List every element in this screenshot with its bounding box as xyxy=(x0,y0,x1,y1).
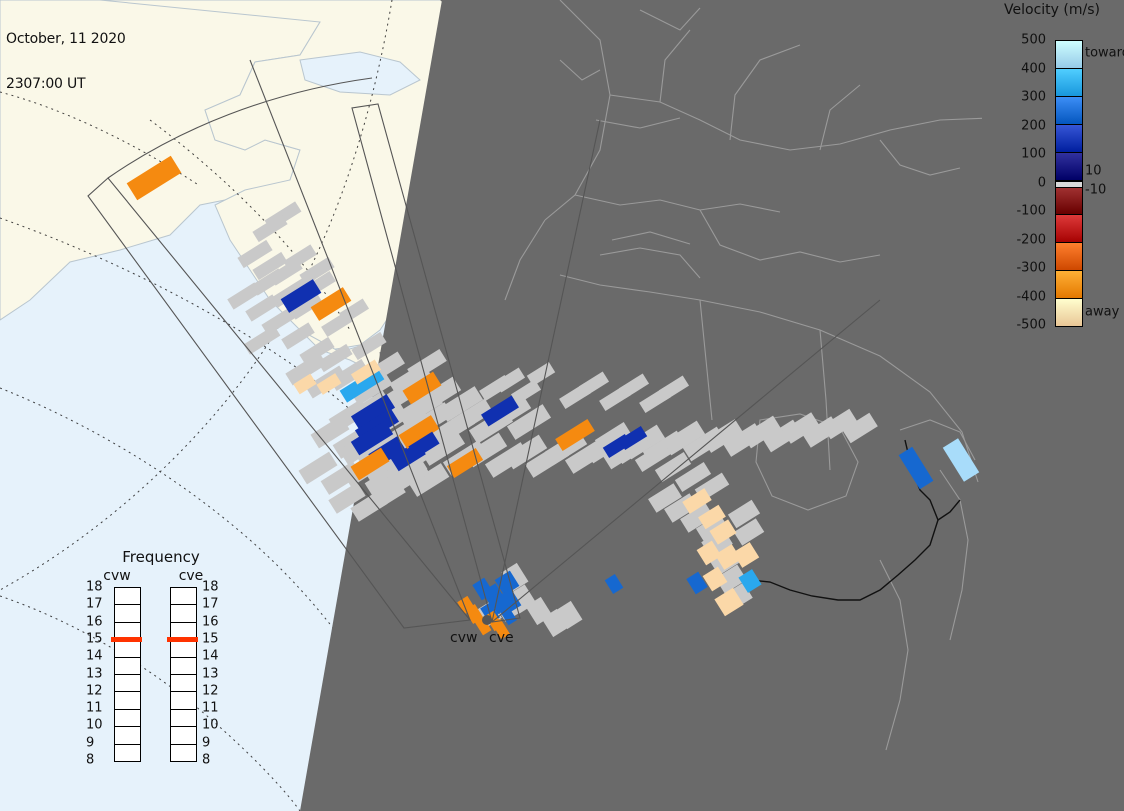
frequency-scale-cell xyxy=(115,588,140,605)
colorbar-segment xyxy=(1056,188,1082,216)
colorbar-toward-label: toward xyxy=(1085,47,1124,60)
frequency-tick-16: 16 xyxy=(86,615,103,628)
colorbar-tick-neg100: -100 xyxy=(1016,205,1046,218)
frequency-tick-9: 9 xyxy=(202,736,210,749)
frequency-tick-10: 10 xyxy=(202,719,219,732)
frequency-tick-13: 13 xyxy=(202,667,219,680)
frequency-tick-14: 14 xyxy=(202,650,219,663)
frequency-tick-10: 10 xyxy=(86,719,103,732)
frequency-tick-16: 16 xyxy=(202,615,219,628)
frequency-tick-14: 14 xyxy=(86,650,103,663)
colorbar-segment xyxy=(1056,69,1082,97)
frequency-scale-cell xyxy=(171,605,196,622)
frequency-tick-13: 13 xyxy=(86,667,103,680)
colorbar-segment xyxy=(1056,299,1082,326)
timestamp-time: 2307:00 UT xyxy=(6,77,126,92)
frequency-scale-cell xyxy=(115,658,140,675)
colorbar-tick-300: 300 xyxy=(1021,91,1046,104)
colorbar-tick-100: 100 xyxy=(1021,148,1046,161)
colorbar-tick-200: 200 xyxy=(1021,119,1046,132)
colorbar-segment xyxy=(1056,153,1082,181)
frequency-tick-15: 15 xyxy=(202,632,219,645)
frequency-ticks-cvw: 18171615141312111098 xyxy=(86,587,110,760)
colorbar-segment xyxy=(1056,125,1082,153)
timestamp-date: October, 11 2020 xyxy=(6,32,126,47)
frequency-scale-cvw xyxy=(114,587,141,762)
frequency-scale-cell xyxy=(171,692,196,709)
frequency-tick-18: 18 xyxy=(86,581,103,594)
colorbar-segment xyxy=(1056,97,1082,125)
colorbar-tick-labels: 5004003002001000-100-200-300-400-500 xyxy=(982,40,1050,325)
colorbar-segment xyxy=(1056,243,1082,271)
frequency-tick-11: 11 xyxy=(86,702,103,715)
frequency-scale-cve xyxy=(170,587,197,762)
radar-site-marker xyxy=(482,615,492,625)
colorbar-segment xyxy=(1056,271,1082,299)
frequency-scale-cell xyxy=(115,727,140,744)
frequency-tick-17: 17 xyxy=(86,598,103,611)
frequency-legend: Frequency cvw 18171615141312111098 cve 1… xyxy=(86,548,236,780)
colorbar-segment xyxy=(1056,215,1082,243)
frequency-scale-cell xyxy=(171,588,196,605)
frequency-scale-cell xyxy=(171,640,196,657)
frequency-tick-17: 17 xyxy=(202,598,219,611)
colorbar-zero-lower-label: -10 xyxy=(1085,184,1106,197)
frequency-scale-cell xyxy=(115,640,140,657)
colorbar-segment xyxy=(1056,41,1082,69)
frequency-ticks-cve: 18171615141312111098 xyxy=(202,587,226,760)
colorbar-tick-0: 0 xyxy=(1038,176,1046,189)
frequency-tick-9: 9 xyxy=(86,736,94,749)
frequency-tick-12: 12 xyxy=(202,684,219,697)
frequency-scale-cell xyxy=(115,692,140,709)
velocity-colorbar-panel: Velocity (m/s) 5004003002001000-100-200-… xyxy=(982,0,1124,811)
colorbar-tick-500: 500 xyxy=(1021,34,1046,47)
colorbar-zero-band xyxy=(1056,181,1082,188)
colorbar-tick-400: 400 xyxy=(1021,62,1046,75)
frequency-scale-cell xyxy=(115,745,140,761)
frequency-marker-cve xyxy=(167,637,198,642)
frequency-scale-cell xyxy=(115,710,140,727)
frequency-column-cvw: cvw 18171615141312111098 xyxy=(86,568,148,780)
frequency-tick-18: 18 xyxy=(202,581,219,594)
frequency-scale-cell xyxy=(171,710,196,727)
frequency-scale-cell xyxy=(171,658,196,675)
colorbar-tick-neg400: -400 xyxy=(1016,290,1046,303)
frequency-column-cve: cve 18171615141312111098 xyxy=(170,568,232,780)
frequency-tick-15: 15 xyxy=(86,632,103,645)
frequency-scale-cell xyxy=(171,745,196,761)
timestamp-block: October, 11 2020 2307:00 UT xyxy=(6,2,126,122)
frequency-tick-8: 8 xyxy=(202,754,210,767)
frequency-legend-title: Frequency xyxy=(86,548,236,566)
frequency-marker-cvw xyxy=(111,637,142,642)
colorbar-title: Velocity (m/s) xyxy=(982,2,1122,18)
colorbar-tick-neg500: -500 xyxy=(1016,319,1046,332)
site-label-cve: cve xyxy=(489,630,514,646)
frequency-scale-cell xyxy=(115,605,140,622)
frequency-scale-cell xyxy=(171,675,196,692)
colorbar-tick-neg300: -300 xyxy=(1016,262,1046,275)
frequency-scale-cell xyxy=(171,727,196,744)
frequency-scale-cell xyxy=(115,675,140,692)
colorbar-zero-upper-label: 10 xyxy=(1085,165,1102,178)
frequency-tick-8: 8 xyxy=(86,754,94,767)
frequency-tick-12: 12 xyxy=(86,684,103,697)
frequency-tick-11: 11 xyxy=(202,702,219,715)
radar-map-figure: October, 11 2020 2307:00 UT cvw cve Freq… xyxy=(0,0,1124,811)
colorbar-tick-neg200: -200 xyxy=(1016,233,1046,246)
site-label-cvw: cvw xyxy=(450,630,477,646)
colorbar-gradient xyxy=(1055,40,1083,327)
colorbar-away-label: away xyxy=(1085,306,1119,319)
